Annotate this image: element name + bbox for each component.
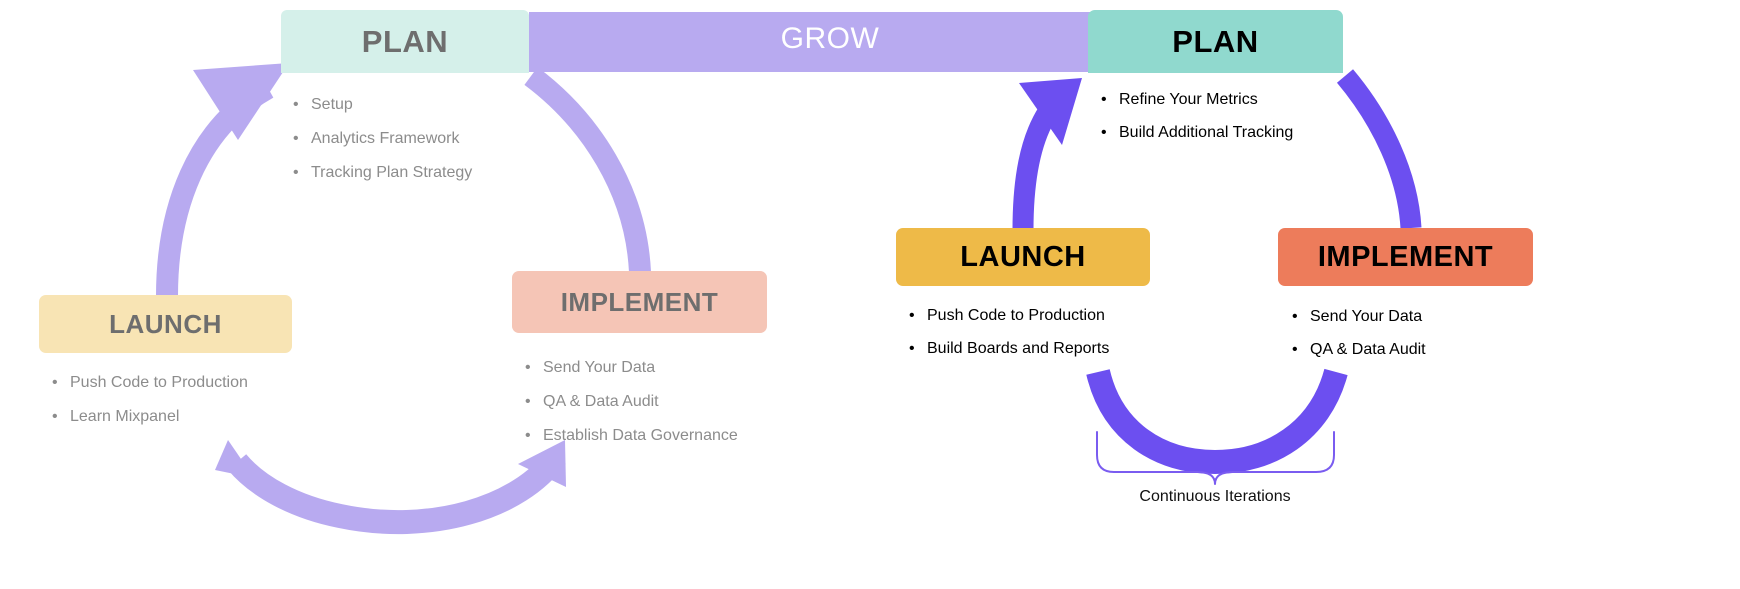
list-item: • Build Additional Tracking [1101, 116, 1293, 149]
left-plan-bullets: • Setup • Analytics Framework • Tracking… [293, 88, 472, 190]
list-item: • Refine Your Metrics [1101, 83, 1293, 116]
list-item: • Tracking Plan Strategy [293, 156, 472, 190]
right-plan-title: PLAN [1172, 26, 1258, 57]
list-item: • Send Your Data [1292, 300, 1426, 333]
left-launch-title: LAUNCH [109, 311, 222, 337]
faded-arrowhead-plan [193, 63, 289, 140]
list-item: • Analytics Framework [293, 122, 472, 156]
list-item-label: Setup [311, 88, 353, 122]
right-launch-bullets: • Push Code to Production • Build Boards… [909, 299, 1109, 365]
diagram-canvas: GROW PLAN • Setup • Analytics Framework … [0, 0, 1740, 589]
right-launch-title: LAUNCH [960, 243, 1085, 272]
bullet-dot-icon: • [909, 299, 927, 332]
list-item-label: Learn Mixpanel [70, 400, 179, 434]
list-item-label: Refine Your Metrics [1119, 83, 1258, 116]
faded-arrow-implement-to-launch [237, 457, 556, 522]
faded-arrowtail-implement [215, 440, 254, 478]
faded-arrow-plan-to-implement [531, 76, 640, 272]
list-item-label: Send Your Data [543, 351, 655, 385]
list-item-label: QA & Data Audit [543, 385, 659, 419]
list-item-label: Establish Data Governance [543, 419, 738, 453]
left-implement-box[interactable]: IMPLEMENT [512, 271, 767, 333]
right-launch-box[interactable]: LAUNCH [896, 228, 1150, 286]
bullet-dot-icon: • [525, 385, 543, 419]
left-plan-box[interactable]: PLAN [281, 10, 529, 73]
bullet-dot-icon: • [293, 88, 311, 122]
vivid-arrowhead-plan [1019, 78, 1082, 145]
list-item: • QA & Data Audit [525, 385, 738, 419]
right-implement-title: IMPLEMENT [1318, 243, 1493, 272]
bullet-dot-icon: • [525, 351, 543, 385]
bullet-dot-icon: • [52, 400, 70, 434]
list-item: • Build Boards and Reports [909, 332, 1109, 365]
vivid-arrow-launch-to-plan [1023, 112, 1048, 230]
bullet-dot-icon: • [525, 419, 543, 453]
right-implement-box[interactable]: IMPLEMENT [1278, 228, 1533, 286]
left-launch-box[interactable]: LAUNCH [39, 295, 292, 353]
bullet-dot-icon: • [293, 156, 311, 190]
list-item-label: Push Code to Production [70, 366, 248, 400]
list-item: • Setup [293, 88, 472, 122]
bullet-dot-icon: • [909, 332, 927, 365]
list-item: • Establish Data Governance [525, 419, 738, 453]
right-implement-bullets: • Send Your Data • QA & Data Audit [1292, 300, 1426, 366]
list-item: • Send Your Data [525, 351, 738, 385]
left-implement-title: IMPLEMENT [561, 289, 719, 315]
grow-banner-label: GROW [760, 22, 900, 56]
bullet-dot-icon: • [1292, 333, 1310, 366]
list-item-label: Send Your Data [1310, 300, 1422, 333]
vivid-arrow-implement-to-launch [1098, 372, 1336, 462]
bullet-dot-icon: • [1101, 83, 1119, 116]
list-item-label: Build Boards and Reports [927, 332, 1109, 365]
left-launch-bullets: • Push Code to Production • Learn Mixpan… [52, 366, 248, 434]
list-item-label: Push Code to Production [927, 299, 1105, 332]
continuous-iterations-label: Continuous Iterations [1065, 488, 1365, 506]
continuous-iterations-brace [1097, 432, 1334, 484]
list-item-label: Analytics Framework [311, 122, 459, 156]
bullet-dot-icon: • [293, 122, 311, 156]
left-plan-title: PLAN [362, 26, 448, 57]
right-plan-bullets: • Refine Your Metrics • Build Additional… [1101, 83, 1293, 149]
list-item: • QA & Data Audit [1292, 333, 1426, 366]
left-implement-bullets: • Send Your Data • QA & Data Audit • Est… [525, 351, 738, 453]
list-item: • Learn Mixpanel [52, 400, 248, 434]
list-item-label: Tracking Plan Strategy [311, 156, 472, 190]
vivid-arrow-plan-to-implement [1345, 76, 1411, 228]
list-item: • Push Code to Production [52, 366, 248, 400]
list-item-label: Build Additional Tracking [1119, 116, 1293, 149]
faded-arrow-launch-to-plan [167, 88, 268, 296]
list-item-label: QA & Data Audit [1310, 333, 1426, 366]
bullet-dot-icon: • [52, 366, 70, 400]
bullet-dot-icon: • [1292, 300, 1310, 333]
bullet-dot-icon: • [1101, 116, 1119, 149]
list-item: • Push Code to Production [909, 299, 1109, 332]
right-plan-box[interactable]: PLAN [1088, 10, 1343, 73]
